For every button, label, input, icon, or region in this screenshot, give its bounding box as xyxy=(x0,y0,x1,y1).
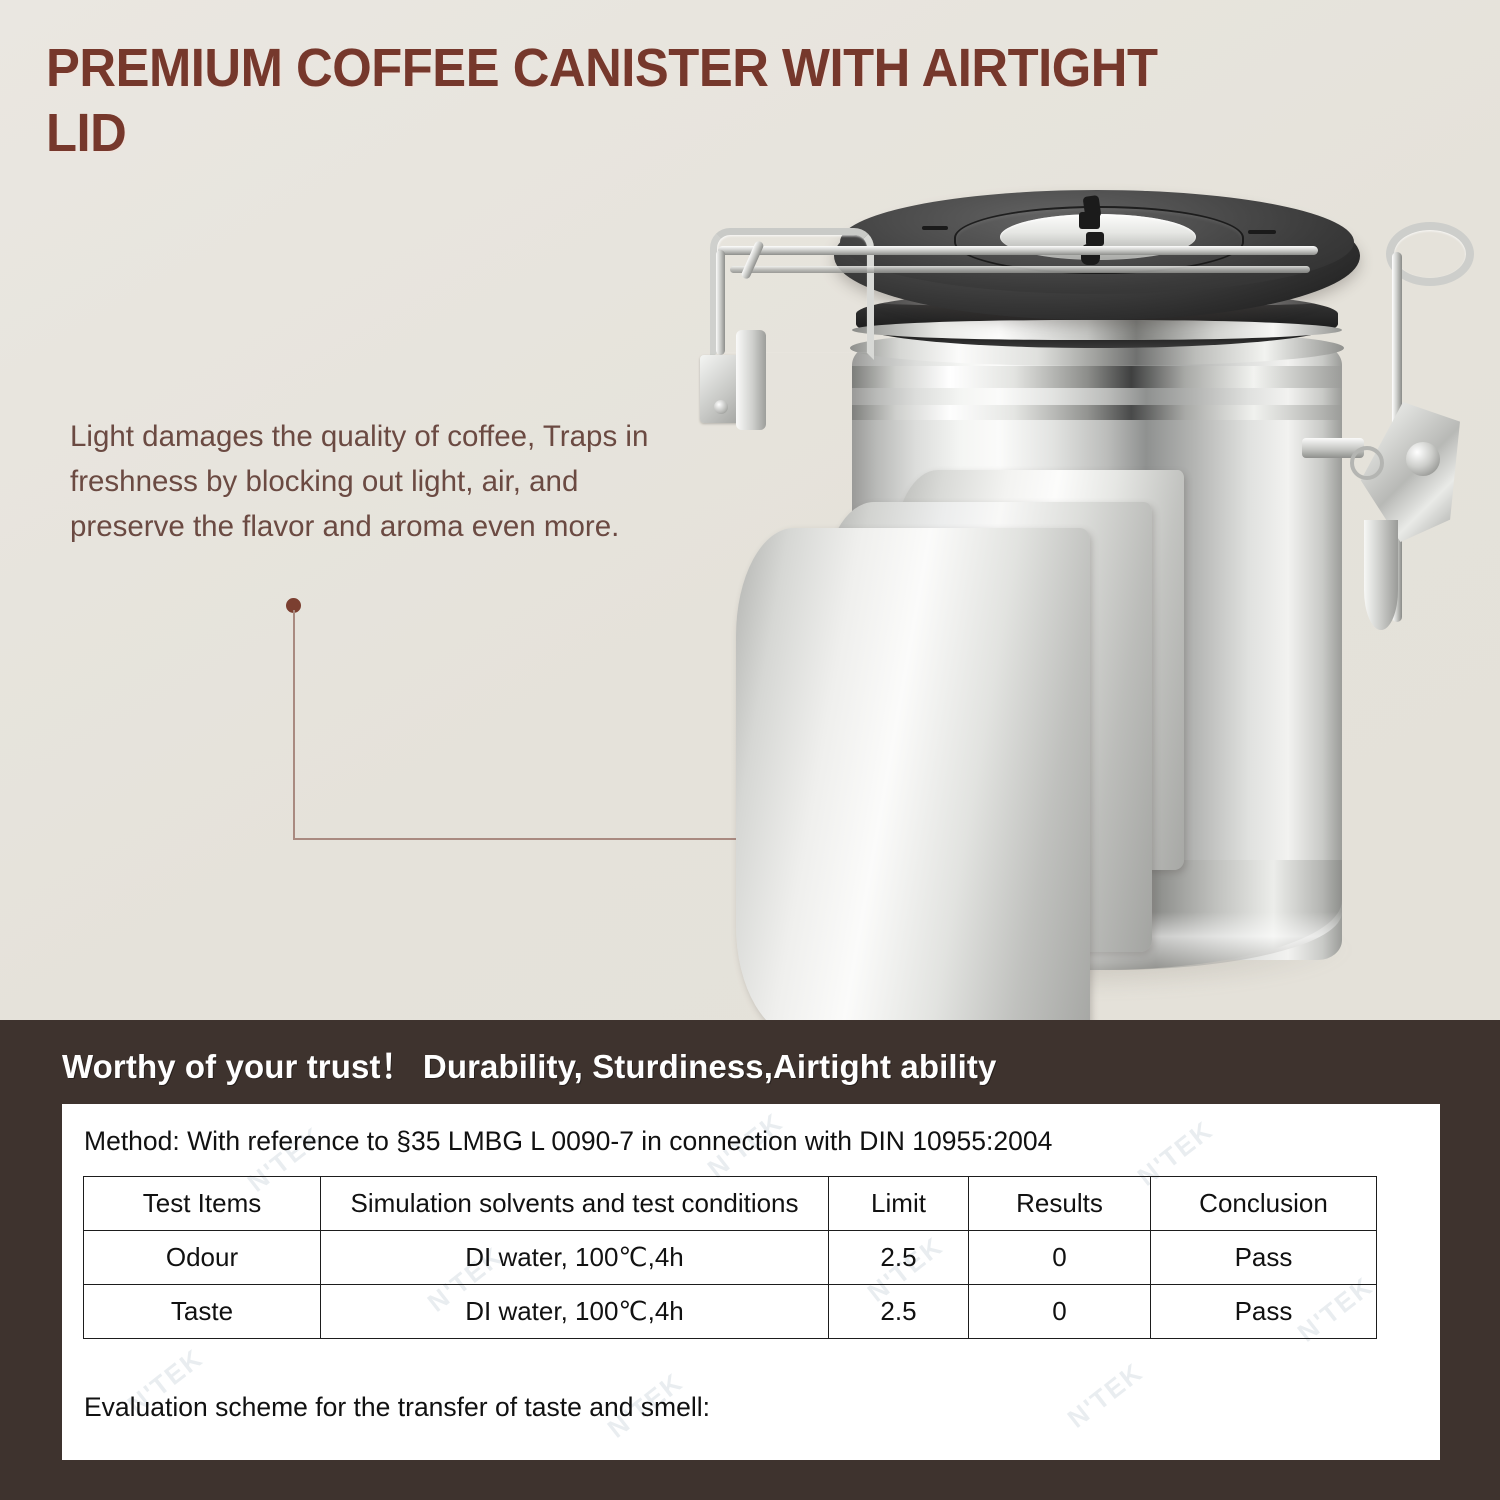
wire-bail-crossbar xyxy=(718,246,1318,255)
test-report-panel: N'TEK N'TEK N'TEK N'TEK N'TEK N'TEK N'TE… xyxy=(62,1104,1440,1460)
cell-test-item: Taste xyxy=(84,1285,321,1339)
watermark: N'TEK xyxy=(1062,1357,1150,1435)
table-header-row: Test Items Simulation solvents and test … xyxy=(84,1177,1377,1231)
test-method-line: Method: With reference to §35 LMBG L 009… xyxy=(84,1126,1052,1157)
chrome-collar-ring xyxy=(852,320,1342,340)
cell-conditions: DI water, 100℃,4h xyxy=(321,1285,829,1339)
cell-result: 0 xyxy=(969,1231,1151,1285)
wire-bail-crossbar-secondary xyxy=(730,266,1310,273)
cell-test-item: Odour xyxy=(84,1231,321,1285)
hinge-rivet-left xyxy=(714,400,728,414)
cell-result: 0 xyxy=(969,1285,1151,1339)
table-row: Odour DI water, 100℃,4h 2.5 0 Pass xyxy=(84,1231,1377,1285)
test-results-table: Test Items Simulation solvents and test … xyxy=(83,1176,1377,1339)
canister-chrome-band-upper xyxy=(852,366,1342,388)
product-image xyxy=(700,170,1500,1000)
cell-limit: 2.5 xyxy=(829,1285,969,1339)
canister-chrome-band-lower xyxy=(852,405,1342,420)
steel-layer-panel-front xyxy=(736,528,1090,1038)
cell-conclusion: Pass xyxy=(1151,1231,1377,1285)
callout-start-dot xyxy=(286,598,301,613)
evaluation-scheme-line: Evaluation scheme for the transfer of ta… xyxy=(84,1392,710,1423)
hinge-tab-left xyxy=(736,330,766,430)
cell-limit: 2.5 xyxy=(829,1231,969,1285)
product-infographic-page: PREMIUM COFFEE CANISTER WITH AIRTIGHT LI… xyxy=(0,0,1500,1500)
cell-conclusion: Pass xyxy=(1151,1285,1377,1339)
column-header: Conclusion xyxy=(1151,1177,1377,1231)
column-header: Limit xyxy=(829,1177,969,1231)
banner-heading: Worthy of your trust！ Durability, Sturdi… xyxy=(62,1040,996,1088)
column-header: Simulation solvents and test conditions xyxy=(321,1177,829,1231)
valve-knob-body xyxy=(1079,212,1100,229)
lid-marker-dash-right xyxy=(1248,230,1276,234)
page-title: PREMIUM COFFEE CANISTER WITH AIRTIGHT LI… xyxy=(46,36,1212,167)
column-header: Test Items xyxy=(84,1177,321,1231)
wire-bail-arm-left xyxy=(716,250,725,355)
callout-vertical-line xyxy=(293,610,295,840)
feature-description: Light damages the quality of coffee, Tra… xyxy=(70,415,650,549)
lid-marker-dash-left xyxy=(922,226,948,230)
latch-tail xyxy=(1364,520,1398,630)
column-header: Results xyxy=(969,1177,1151,1231)
latch-eyelet xyxy=(1350,446,1384,480)
latch-rivet xyxy=(1406,442,1440,476)
cell-conditions: DI water, 100℃,4h xyxy=(321,1231,829,1285)
table-row: Taste DI water, 100℃,4h 2.5 0 Pass xyxy=(84,1285,1377,1339)
